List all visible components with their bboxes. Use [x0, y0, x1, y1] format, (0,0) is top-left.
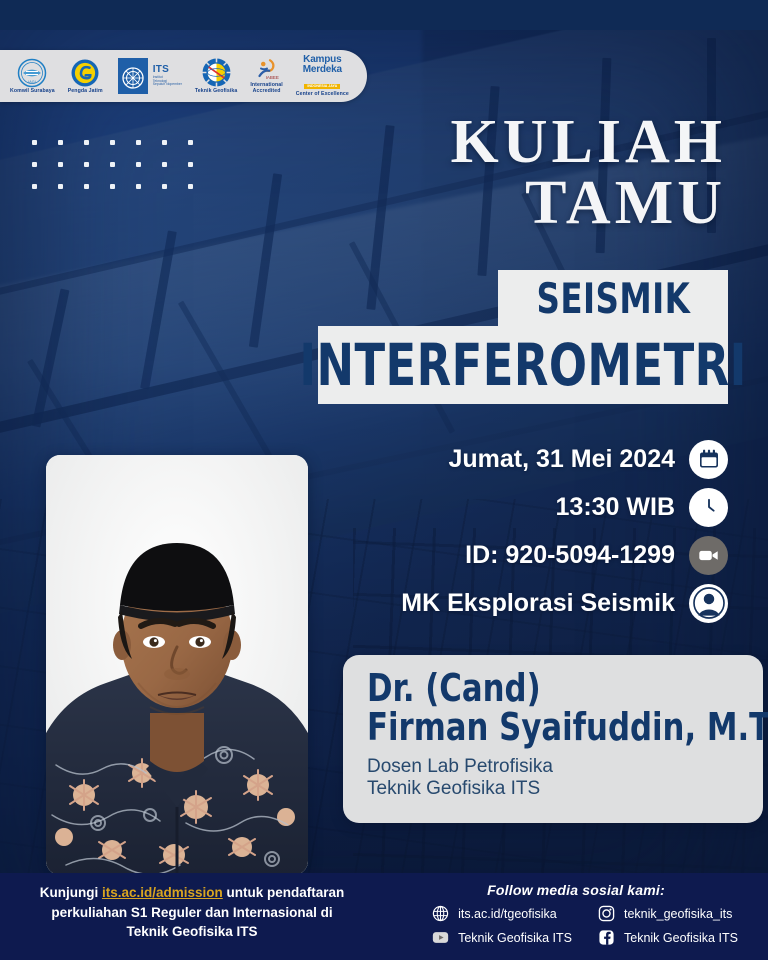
- speaker-name-line-2: Firman Syaifuddin, M.T.: [367, 708, 705, 747]
- subject-line-2: INTERFEROMETRI: [299, 331, 746, 399]
- follow-title: Follow media sosial kami:: [384, 882, 768, 898]
- social-website[interactable]: its.ac.id/tgeofisika: [432, 905, 572, 922]
- speaker-portrait-illustration: [46, 455, 308, 875]
- poster-headline: KULIAH TAMU: [451, 112, 726, 234]
- social-facebook-label: Teknik Geofisika ITS: [624, 931, 738, 945]
- social-instagram[interactable]: teknik_geofisika_its: [598, 905, 738, 922]
- top-band: [0, 0, 768, 30]
- social-links-grid: its.ac.id/tgeofisika teknik_geofisika_it…: [384, 905, 768, 946]
- globe-icon: [432, 905, 449, 922]
- speaker-photo: [46, 455, 308, 875]
- subject-line-1: SEISMIK: [536, 274, 690, 323]
- video-camera-icon: [689, 536, 728, 575]
- detail-row-time: 13:30 WIB: [388, 486, 728, 528]
- detail-meeting-id-text: ID: 920-5094-1299: [465, 541, 675, 570]
- komwil-surabaya-icon: IAGI: [17, 58, 47, 88]
- person-icon: [689, 584, 728, 623]
- detail-date-text: Jumat, 31 Mei 2024: [448, 445, 675, 474]
- detail-row-date: Jumat, 31 Mei 2024: [388, 438, 728, 480]
- headline-line-1: KULIAH: [451, 108, 726, 176]
- admission-line-3: Teknik Geofisika ITS: [0, 922, 384, 942]
- pengda-jatim-icon: [70, 58, 100, 88]
- speaker-affiliation-line-2: Teknik Geofisika ITS: [367, 778, 743, 800]
- detail-row-meeting-id: ID: 920-5094-1299: [388, 534, 728, 576]
- facebook-icon: [598, 929, 615, 946]
- iabee-mark-text: IABEE: [265, 75, 278, 80]
- detail-course-text: MK Eksplorasi Seismik: [401, 589, 675, 618]
- admission-line-1: Kunjungi its.ac.id/admission untuk penda…: [0, 883, 384, 903]
- clock-icon: [689, 488, 728, 527]
- social-media-block: Follow media sosial kami: its.ac.id/tgeo…: [384, 882, 768, 946]
- dot-grid-decoration: [32, 140, 214, 206]
- social-youtube-label: Teknik Geofisika ITS: [458, 931, 572, 945]
- youtube-icon: [432, 929, 449, 946]
- kampus-line-3: INDONESIA JAYA: [304, 84, 340, 89]
- its-sub-3: Sepuluh Nopember: [153, 83, 182, 86]
- logo-strip: IAGI Komwil Surabaya Pengda Jatim ITS In…: [0, 50, 367, 102]
- speaker-affiliation-line-1: Dosen Lab Petrofisika: [367, 756, 743, 778]
- iabee-icon: IABEE: [252, 58, 282, 82]
- its-logo: ITS Institut Teknologi Sepuluh Nopember: [116, 56, 182, 96]
- social-youtube[interactable]: Teknik Geofisika ITS: [432, 929, 572, 946]
- its-emblem-icon: [116, 56, 150, 96]
- teknik-geofisika-logo: Teknik Geofisika: [195, 57, 237, 94]
- logo-caption: Center of Excellence: [296, 92, 349, 97]
- logo-caption: Teknik Geofisika: [195, 89, 237, 94]
- admission-link[interactable]: its.ac.id/admission: [102, 885, 223, 900]
- admission-suffix: untuk pendaftaran: [223, 885, 345, 900]
- iabee-logo: IABEE International Accredited: [250, 58, 282, 94]
- speaker-info-card: Dr. (Cand) Firman Syaifuddin, M.T. Dosen…: [343, 655, 763, 823]
- logo-caption: Komwil Surabaya: [10, 89, 55, 94]
- kampus-merdeka-logo: Kampus Merdeka INDONESIA JAYA Center of …: [296, 55, 349, 97]
- poster-canvas: IAGI Komwil Surabaya Pengda Jatim ITS In…: [0, 0, 768, 960]
- subject-box-line-1: SEISMIK: [498, 270, 728, 326]
- detail-row-course: MK Eksplorasi Seismik: [388, 582, 728, 624]
- logo-caption-line2: Accredited: [253, 89, 281, 94]
- social-website-label: its.ac.id/tgeofisika: [458, 907, 557, 921]
- komwil-surabaya-logo: IAGI Komwil Surabaya: [10, 58, 55, 94]
- detail-time-text: 13:30 WIB: [556, 493, 675, 522]
- admission-info: Kunjungi its.ac.id/admission untuk penda…: [0, 883, 384, 942]
- subject-box-line-2: INTERFEROMETRI: [318, 326, 728, 404]
- svg-text:IAGI: IAGI: [29, 80, 37, 84]
- speaker-name-line-1: Dr. (Cand): [367, 669, 705, 708]
- its-abbr: ITS: [153, 65, 182, 75]
- headline-line-2: TAMU: [451, 173, 726, 234]
- admission-line-2: perkuliahan S1 Reguler dan Internasional…: [0, 903, 384, 923]
- logo-caption: Pengda Jatim: [68, 89, 103, 94]
- calendar-icon: [689, 440, 728, 479]
- event-details-list: Jumat, 31 Mei 2024 13:30 WIB: [388, 438, 728, 624]
- admission-prefix: Kunjungi: [40, 885, 102, 900]
- kampus-line-2: Merdeka: [303, 65, 342, 75]
- teknik-geofisika-icon: [201, 57, 232, 88]
- pengda-jatim-logo: Pengda Jatim: [68, 58, 103, 94]
- instagram-icon: [598, 905, 615, 922]
- social-facebook[interactable]: Teknik Geofisika ITS: [598, 929, 738, 946]
- social-instagram-label: teknik_geofisika_its: [624, 907, 732, 921]
